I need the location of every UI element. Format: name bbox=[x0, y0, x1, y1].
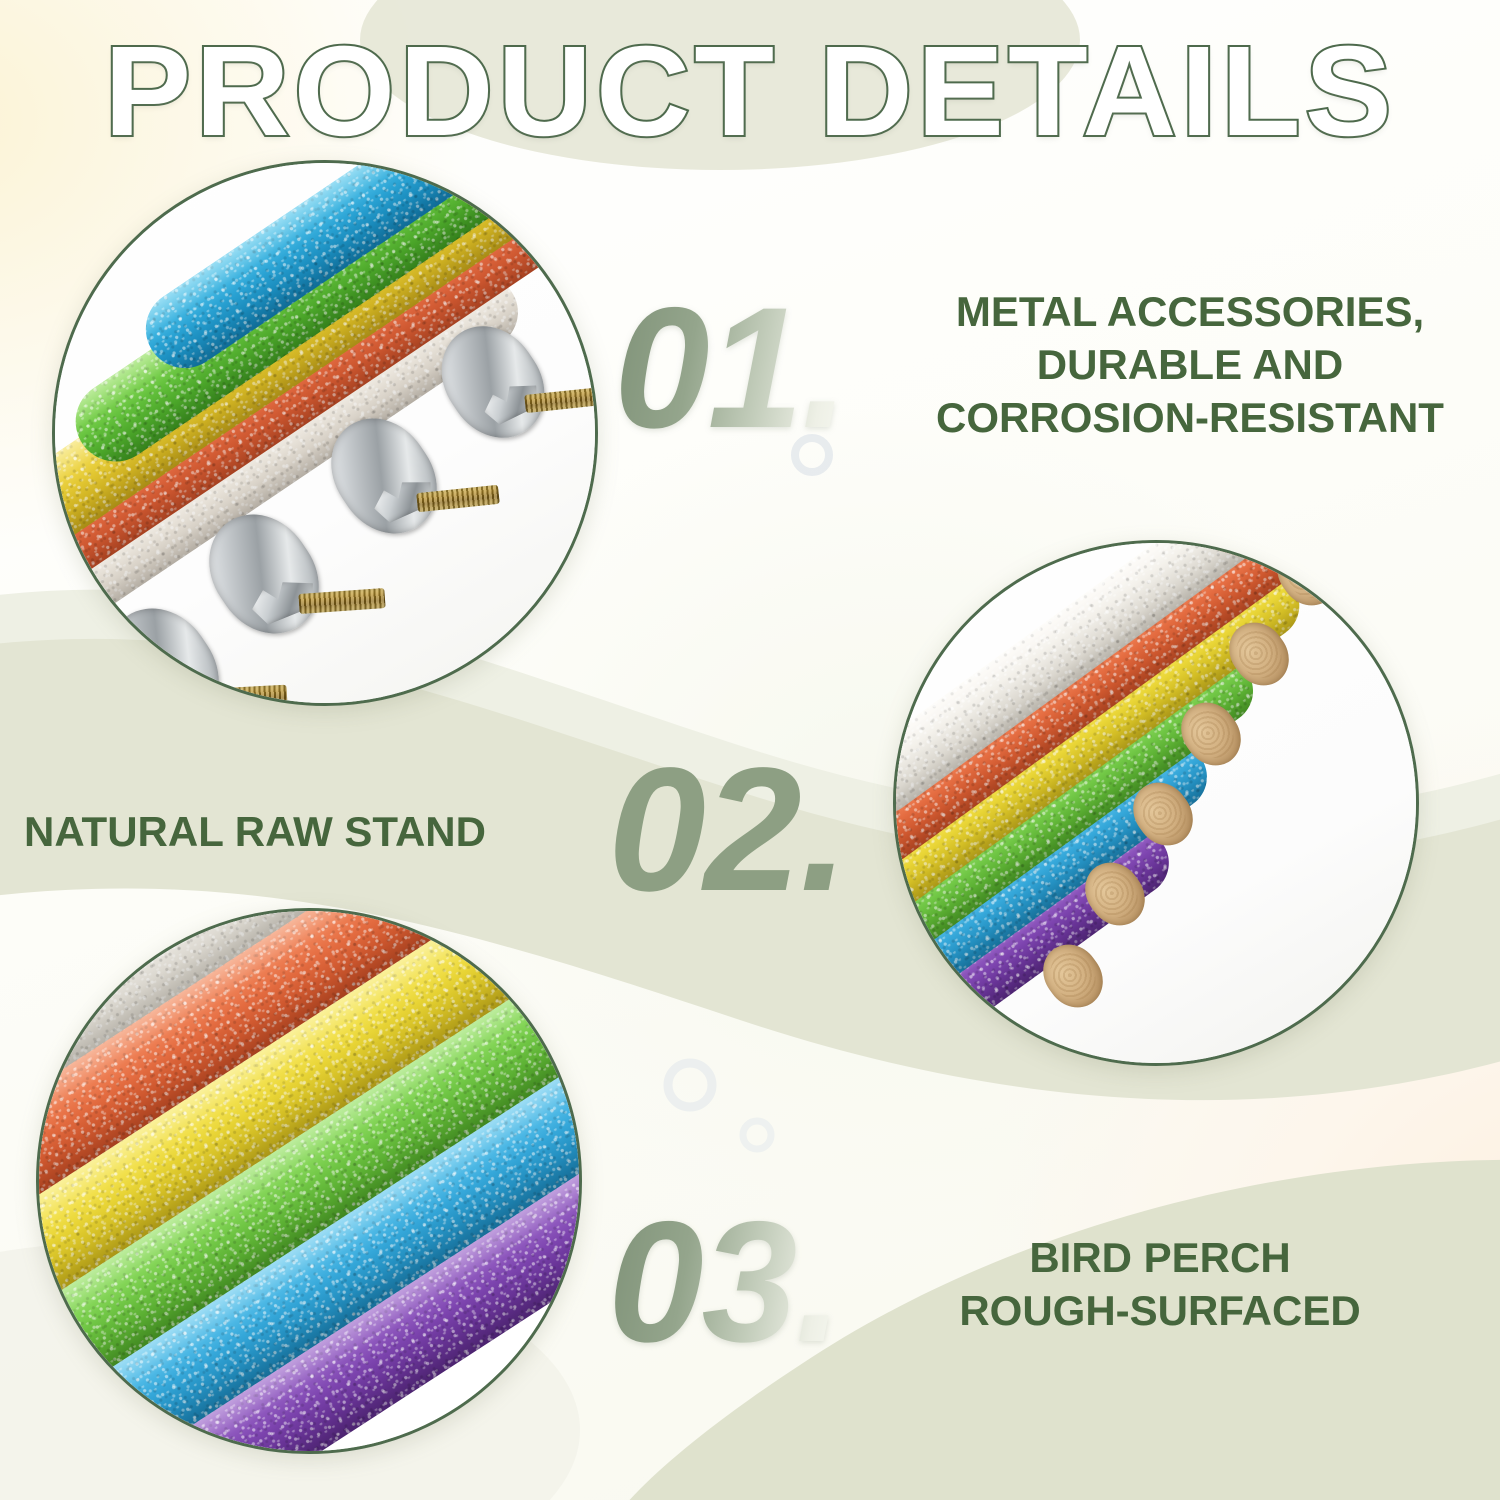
infographic-canvas: PRODUCT DETAILS bbox=[0, 0, 1500, 1500]
metal-accessories-photo bbox=[52, 160, 598, 706]
decor-ring-b bbox=[668, 1063, 712, 1107]
section-number-02: 02. bbox=[608, 742, 847, 918]
natural-raw-stand-photo bbox=[893, 540, 1419, 1066]
section-caption-02: NATURAL RAW STAND bbox=[24, 806, 584, 859]
bird-perch-texture-photo bbox=[36, 908, 582, 1454]
decor-ring-c bbox=[743, 1121, 771, 1149]
section-caption-03: BIRD PERCH ROUGH-SURFACED bbox=[900, 1232, 1420, 1338]
section-number-01: 01. bbox=[614, 282, 847, 454]
page-title: PRODUCT DETAILS bbox=[0, 18, 1500, 165]
section-number-03: 03. bbox=[608, 1196, 841, 1368]
section-caption-01: METAL ACCESSORIES, DURABLE AND CORROSION… bbox=[900, 286, 1480, 445]
